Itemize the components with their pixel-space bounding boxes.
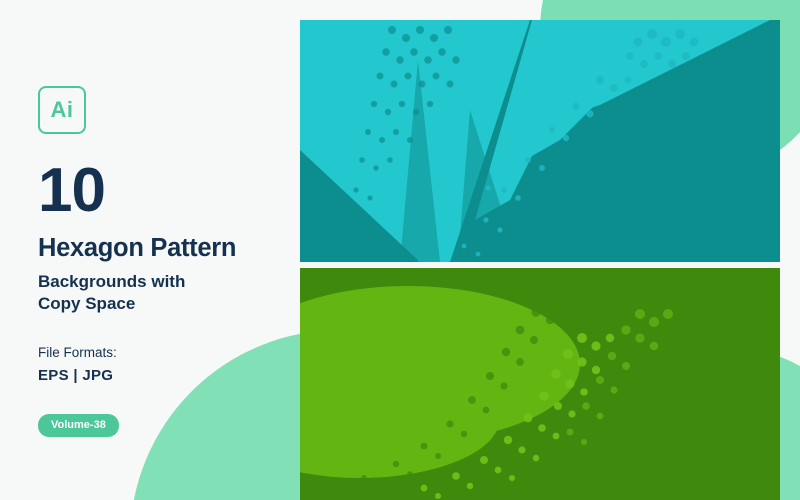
teal-hexagon-svg [300,20,780,262]
file-formats-label: File Formats: [38,345,288,360]
page-title: Hexagon Pattern [38,234,288,262]
info-panel: Ai 10 Hexagon Pattern Backgrounds with C… [38,86,288,384]
adobe-illustrator-badge: Ai [38,86,86,134]
page-subtitle: Backgrounds with Copy Space [38,271,288,315]
green-hexagon-svg [300,268,780,500]
volume-badge: Volume-38 [38,414,119,437]
badge-label: Ai [51,97,74,123]
poster-canvas: Ai 10 Hexagon Pattern Backgrounds with C… [0,0,800,500]
teal-hexagon-preview[interactable] [300,20,780,262]
subtitle-line-1: Backgrounds with [38,271,288,293]
item-count: 10 [38,160,288,222]
file-formats-value: EPS | JPG [38,367,288,384]
green-hexagon-preview[interactable] [300,268,780,500]
preview-gallery [300,20,780,500]
subtitle-line-2: Copy Space [38,293,288,315]
